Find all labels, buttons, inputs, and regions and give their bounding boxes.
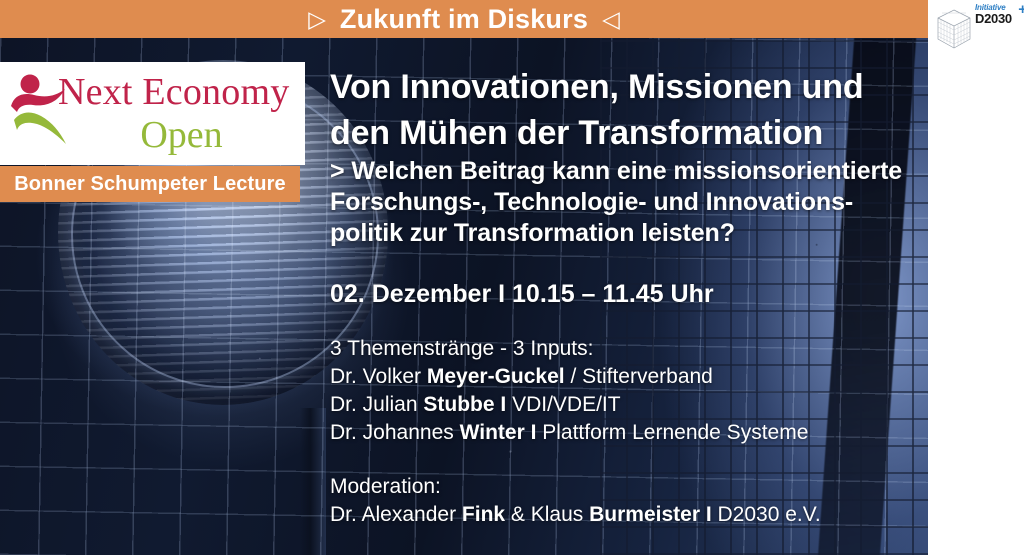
moderator-name-2: Burmeister I <box>589 503 712 526</box>
next-economy-open-wordmark: Next Economy Open <box>58 70 299 156</box>
logo-line-next-economy: Next Economy <box>58 70 299 114</box>
bonner-schumpeter-lecture-strip: Bonner Schumpeter Lecture <box>0 166 300 202</box>
moderator-affiliation: D2030 e.V. <box>712 503 821 526</box>
banner-title: Zukunft im Diskurs <box>340 6 588 33</box>
subtitle-line-2: Forschungs-, Technologie- und Innovation… <box>330 187 920 218</box>
wireframe-cube-icon <box>935 8 973 50</box>
date-time-line: 02. Dezember I 10.15 – 11.45 Uhr <box>330 279 920 309</box>
speaker-3-prefix: Dr. Johannes <box>330 421 460 444</box>
speaker-3-affiliation: Plattform Lernende Systeme <box>542 421 808 444</box>
photo-panel: ▷ Zukunft im Diskurs ◁ Next Economy Open… <box>0 0 928 555</box>
moderator-name-1: Fink <box>462 503 505 526</box>
top-banner: ▷ Zukunft im Diskurs ◁ <box>0 0 928 38</box>
triangle-right-icon: ▷ <box>308 8 326 31</box>
speaker-1-separator: / <box>565 365 583 388</box>
plus-icon: + <box>1018 3 1024 17</box>
speaker-2-prefix: Dr. Julian <box>330 393 423 416</box>
speaker-1-name: Meyer-Guckel <box>427 365 565 388</box>
title-line-1: Von Innovationen, Missionen und <box>330 64 920 110</box>
subtitle-line-1: > Welchen Beitrag kann eine missionsorie… <box>330 156 920 187</box>
speaker-row-2: Dr. Julian Stubbe I VDI/VDE/IT <box>330 391 920 419</box>
lecture-strip-label: Bonner Schumpeter Lecture <box>14 173 285 196</box>
spacer-before-date <box>330 249 920 279</box>
title-line-2: den Mühen der Transformation <box>330 110 920 156</box>
moderator-middle: & Klaus <box>505 503 589 526</box>
inputs-heading: 3 Themenstränge - 3 Inputs: <box>330 335 920 363</box>
d2030-name-label: D2030 <box>975 12 1023 26</box>
speaker-1-affiliation: Stifterverband <box>582 365 713 388</box>
speaker-1-prefix: Dr. Volker <box>330 365 427 388</box>
slide-canvas: ▷ Zukunft im Diskurs ◁ Next Economy Open… <box>0 0 1024 555</box>
spacer-before-inputs <box>330 309 920 335</box>
speaker-2-affiliation: VDI/VDE/IT <box>512 393 621 416</box>
speaker-row-1: Dr. Volker Meyer-Guckel / Stifterverband <box>330 363 920 391</box>
speaker-3-name: Winter I <box>460 421 537 444</box>
spacer-before-moderation <box>330 447 920 473</box>
moderator-prefix: Dr. Alexander <box>330 503 462 526</box>
next-economy-open-logo: Next Economy Open <box>0 62 305 165</box>
content-column: Von Innovationen, Missionen und den Mühe… <box>330 64 920 529</box>
speaker-2-name: Stubbe I <box>423 393 506 416</box>
triangle-left-icon: ◁ <box>602 8 620 31</box>
moderation-heading: Moderation: <box>330 473 920 501</box>
logo-line-open: Open <box>58 114 299 156</box>
subtitle-line-3: politik zur Transformation leisten? <box>330 218 920 249</box>
speaker-row-3: Dr. Johannes Winter I Plattform Lernende… <box>330 419 920 447</box>
d2030-logo: Initiative D2030 + <box>935 2 1021 52</box>
d2030-wordmark: Initiative D2030 + <box>975 3 1023 26</box>
moderation-row: Dr. Alexander Fink & Klaus Burmeister I … <box>330 501 920 529</box>
